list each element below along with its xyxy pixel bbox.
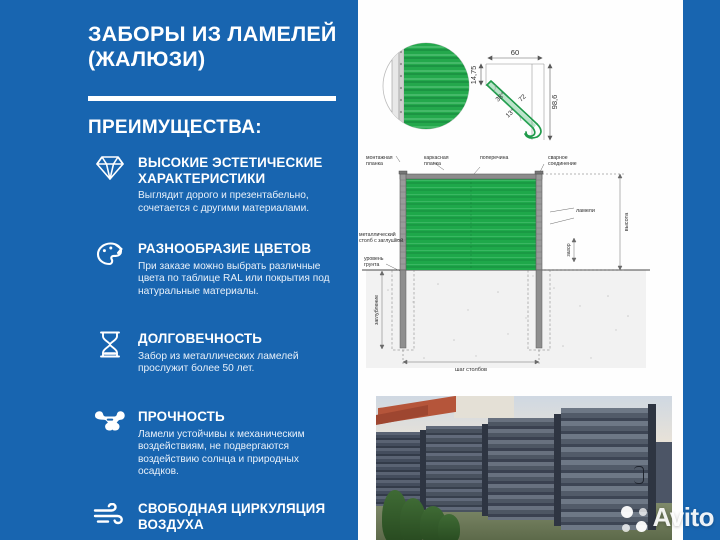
muscle-icon xyxy=(93,409,127,441)
label-ground-level: уровеньгрунта xyxy=(364,256,384,268)
fence-panel xyxy=(488,418,556,520)
right-content-area: 60 14,75 98,6 xyxy=(358,0,683,540)
fence-slats xyxy=(426,426,484,512)
poster-root: ЗАБОРЫ ИЗ ЛАМЕЛЕЙ (ЖАЛЮЗИ) ПРЕИМУЩЕСТВА:… xyxy=(0,0,720,540)
label-gap: зазор xyxy=(566,243,572,256)
advantage-text: Выглядит дорого и презентабельно, сочета… xyxy=(138,190,338,215)
avito-wordmark: Avito xyxy=(652,502,714,533)
advantage-item: ВЫСОКИЕ ЭСТЕТИЧЕСКИЕ ХАРАКТЕРИСТИКИ Выгл… xyxy=(88,155,350,233)
lamella-profile-drawing: 60 14,75 98,6 xyxy=(358,22,683,152)
dim-width-60: 60 xyxy=(511,48,519,57)
advantage-body: РАЗНООБРАЗИЕ ЦВЕТОВ При заказе можно выб… xyxy=(138,241,350,298)
panel-content: ЗАБОРЫ ИЗ ЛАМЕЛЕЙ (ЖАЛЮЗИ) ПРЕИМУЩЕСТВА:… xyxy=(88,0,350,540)
dim-lip-14-75: 14,75 xyxy=(469,66,478,85)
advantage-body: ПРОЧНОСТЬ Ламели устойчивы к механически… xyxy=(138,409,350,479)
fence-slats xyxy=(488,418,556,520)
right-blue-stripe xyxy=(683,0,720,540)
fence-section-drawing: монтажнаяпланка каркаснаяпланка поперечи… xyxy=(358,150,683,380)
advantages-heading: ПРЕИМУЩЕСТВА: xyxy=(88,117,346,139)
title-divider xyxy=(88,96,336,101)
label-mounting-strip: монтажнаяпланка xyxy=(366,155,393,167)
label-lamellas: ламели xyxy=(576,208,595,214)
gate-handle-icon[interactable] xyxy=(634,466,644,484)
label-metal-post: металлическийстолб с заглушкой xyxy=(359,231,403,244)
fence-panel xyxy=(426,426,484,512)
avito-logo-icon xyxy=(621,506,647,532)
advantage-heading: РАЗНООБРАЗИЕ ЦВЕТОВ xyxy=(138,241,350,257)
advantage-body: ВЫСОКИЕ ЭСТЕТИЧЕСКИЕ ХАРАКТЕРИСТИКИ Выгл… xyxy=(138,155,350,215)
advantage-heading: ПРОЧНОСТЬ xyxy=(138,409,350,425)
advantage-heading: ВЫСОКИЕ ЭСТЕТИЧЕСКИЕ ХАРАКТЕРИСТИКИ xyxy=(138,155,350,186)
diamond-icon xyxy=(93,155,127,187)
advantage-text: Забор из металлических ламелей прослужит… xyxy=(138,351,338,376)
advantage-heading: ДОЛГОВЕЧНОСТЬ xyxy=(138,331,350,347)
advantage-body: СВОБОДНАЯ ЦИРКУЛЯЦИЯ ВОЗДУХА xyxy=(138,501,350,532)
advantages-list: ВЫСОКИЕ ЭСТЕТИЧЕСКИЕ ХАРАКТЕРИСТИКИ Выгл… xyxy=(88,155,350,540)
page-title: ЗАБОРЫ ИЗ ЛАМЕЛЕЙ (ЖАЛЮЗИ) xyxy=(88,22,346,72)
wind-icon xyxy=(93,503,127,535)
advantage-item: ДОЛГОВЕЧНОСТЬ Забор из металлических лам… xyxy=(88,331,350,401)
label-frame-strip: каркаснаяпланка xyxy=(424,155,449,167)
photo-shrub xyxy=(438,514,460,540)
label-post-pitch: шаг столбов xyxy=(455,367,487,373)
advantage-item: СВОБОДНАЯ ЦИРКУЛЯЦИЯ ВОЗДУХА xyxy=(88,501,350,540)
dim-len-72: 72 xyxy=(518,93,528,103)
advantage-text: Ламели устойчивы к механическим воздейст… xyxy=(138,429,338,479)
advantage-text: При заказе можно выбрать различные цвета… xyxy=(138,261,338,299)
dim-height-98-6: 98,6 xyxy=(550,95,559,110)
advantage-body: ДОЛГОВЕЧНОСТЬ Забор из металлических лам… xyxy=(138,331,350,376)
hourglass-icon xyxy=(93,331,127,363)
advantage-item: ПРОЧНОСТЬ Ламели устойчивы к механически… xyxy=(88,409,350,493)
avito-watermark: Avito xyxy=(621,503,714,534)
label-crossbar: поперечина xyxy=(480,155,508,161)
palette-icon xyxy=(93,241,127,273)
advantage-item: РАЗНООБРАЗИЕ ЦВЕТОВ При заказе можно выб… xyxy=(88,241,350,323)
fence-post xyxy=(554,414,561,526)
label-welded-joint: сварноесоединение xyxy=(548,155,577,167)
label-height: высота xyxy=(624,212,630,231)
advantage-heading: СВОБОДНАЯ ЦИРКУЛЯЦИЯ ВОЗДУХА xyxy=(138,501,343,532)
label-embedment: заглубление xyxy=(374,295,380,325)
